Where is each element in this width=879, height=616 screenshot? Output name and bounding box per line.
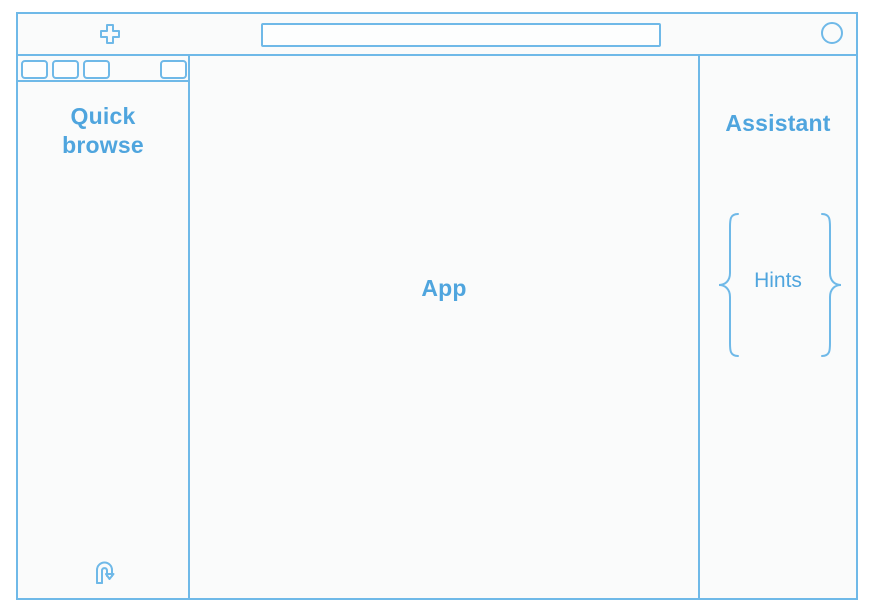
sidebar-item-tab-2[interactable] [52, 60, 79, 79]
window-body: Quick browse App Assistant [18, 56, 856, 598]
hints-block: Hints [700, 211, 856, 359]
circle-avatar-icon[interactable] [821, 22, 843, 44]
sidebar-title-line-1: Quick [18, 102, 188, 131]
sidebar-item-tab-4[interactable] [160, 60, 187, 79]
sidebar-item-tab-1[interactable] [21, 60, 48, 79]
sidebar-tab-strip [18, 56, 188, 82]
new-tab-button[interactable] [97, 23, 123, 47]
quick-browse-sidebar: Quick browse [18, 56, 190, 598]
wireframe-window: Quick browse App Assistant [16, 12, 858, 600]
sidebar-title-line-2: browse [18, 131, 188, 160]
address-bar-input[interactable] [261, 23, 661, 47]
u-turn-back-icon [90, 556, 122, 586]
assistant-title: Assistant [700, 110, 856, 137]
sidebar-item-tab-3[interactable] [83, 60, 110, 79]
sidebar-title: Quick browse [18, 102, 188, 161]
app-label: App [190, 275, 698, 302]
browser-chrome-bar [18, 14, 856, 56]
assistant-panel: Assistant Hints [698, 56, 856, 598]
right-curly-brace-icon [818, 211, 844, 359]
plus-icon [97, 23, 123, 47]
app-content-region[interactable]: App [190, 56, 698, 598]
back-button[interactable] [90, 556, 122, 586]
